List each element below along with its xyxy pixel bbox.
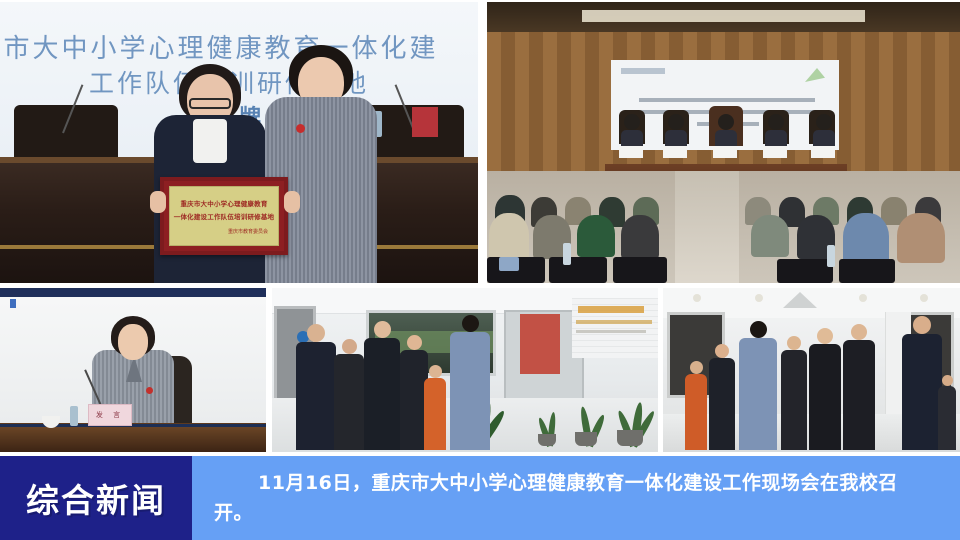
head (715, 344, 729, 358)
nameplate-text: 发 言 (89, 405, 131, 425)
visitor-blue-dress (739, 321, 777, 450)
red-gift-box (412, 107, 438, 137)
visitor (809, 328, 841, 450)
audience-member (843, 213, 889, 265)
sign-title-bar (578, 306, 644, 313)
torso (364, 338, 400, 450)
torso (334, 354, 364, 450)
lapel-pin (296, 124, 305, 133)
photo-conference-hall (487, 2, 960, 283)
visitor (843, 324, 875, 450)
screen-logo (621, 68, 665, 74)
head (768, 114, 784, 130)
head (817, 328, 833, 344)
water-bottle (563, 243, 571, 265)
water-bottle (70, 406, 78, 426)
head (429, 365, 442, 378)
visitor (781, 336, 807, 450)
torso (781, 350, 807, 450)
host-gesturing (902, 316, 942, 450)
chair-back (613, 257, 667, 283)
red-wall-panel (520, 314, 560, 374)
sign-subtitle-bar (576, 320, 652, 324)
staff-orange-vest (685, 361, 707, 450)
screen-leaf-graphic (805, 68, 825, 82)
water-bottle (827, 245, 835, 267)
head (342, 339, 357, 354)
head (787, 336, 801, 350)
audience-member (577, 215, 615, 257)
head (462, 315, 479, 332)
ceiling-light (755, 294, 763, 302)
tour-guide-gesturing (296, 324, 336, 450)
potted-plant (608, 390, 652, 446)
photo-group-visiting-interior (663, 288, 960, 452)
nameplate-3 (713, 146, 737, 158)
head (690, 361, 703, 374)
desk (0, 424, 266, 452)
head (668, 114, 684, 130)
pot (538, 434, 556, 446)
head (624, 114, 640, 130)
photo-plaque-presentation: 市大中小学心理健康教育一体化建 工作队伍培训研修基地 授牌 重庆市大中小 (0, 2, 478, 283)
head (851, 324, 867, 340)
wall-marker (10, 299, 16, 308)
nameplate: 发 言 (88, 404, 132, 426)
glasses (189, 98, 231, 109)
torso (296, 342, 336, 450)
pot (575, 432, 597, 446)
ceiling-light (859, 294, 867, 302)
center-aisle (675, 171, 739, 283)
plaque-face: 重庆市大中小学心理健康教育 一体化建设工作队伍培训研修基地 重庆市教育委员会 (169, 186, 279, 246)
photo-lobby-guided-tour (272, 288, 658, 452)
torso (709, 358, 735, 450)
plaque-issuer: 重庆市教育委员会 (228, 228, 268, 235)
chair-back (777, 259, 833, 283)
banner-caption-text: 11月16日，重庆市大中小学心理健康教育一体化建设工作现场会在我校召开。 (192, 456, 960, 528)
torso (685, 374, 707, 450)
plaque-text-line1: 重庆市大中小学心理健康教育 (180, 198, 267, 208)
plaque-text-line2: 一体化建设工作队伍培训研修基地 (174, 211, 275, 221)
white-collar (193, 119, 227, 163)
visitor-orange-vest (424, 365, 446, 450)
sign-detail-bar (576, 330, 646, 333)
nameplate-4 (763, 146, 787, 158)
visitor (938, 375, 956, 450)
chair-back (549, 257, 607, 283)
head (307, 324, 325, 342)
torso (843, 340, 875, 450)
ceiling (487, 2, 960, 32)
visitor (334, 339, 364, 450)
head (407, 335, 422, 350)
torso (938, 386, 956, 450)
head (913, 316, 931, 334)
ceiling-light (920, 294, 928, 302)
ceiling-light (693, 294, 701, 302)
visitor (709, 344, 735, 450)
hand-right (284, 191, 300, 213)
torso (424, 378, 446, 450)
potted-plant (530, 402, 564, 446)
head (750, 321, 767, 338)
audience-member (621, 215, 659, 259)
lapel-pin (146, 387, 153, 394)
head (816, 114, 832, 130)
nameplate-5 (811, 146, 835, 158)
visitor (364, 321, 400, 450)
upper-banner-strip (0, 288, 266, 297)
desk-document (499, 257, 519, 271)
head (942, 375, 953, 386)
news-collage-page: 市大中小学心理健康教育一体化建 工作队伍培训研修基地 授牌 重庆市大中小 (0, 0, 960, 540)
banner-category-tag: 综合新闻 (0, 456, 192, 540)
nameplate-2 (663, 146, 687, 158)
news-banner: 综合新闻 11月16日，重庆市大中小学心理健康教育一体化建设工作现场会在我校召开… (0, 456, 960, 540)
speaker-head (118, 324, 148, 360)
pot (617, 430, 643, 446)
wall-sign-center-name (572, 298, 658, 358)
ceiling-light-strip (582, 10, 866, 22)
hand-left (150, 191, 166, 213)
torso (739, 338, 777, 450)
banner-caption-area: 11月16日，重庆市大中小学心理健康教育一体化建设工作现场会在我校召开。 (192, 456, 960, 540)
nameplate-1 (619, 146, 643, 158)
potted-plant (566, 396, 606, 446)
award-plaque: 重庆市大中小学心理健康教育 一体化建设工作队伍培训研修基地 重庆市教育委员会 (160, 177, 288, 255)
torso (902, 334, 942, 450)
audience-member (751, 215, 789, 257)
visitor-blue-dress (450, 315, 490, 450)
head (718, 114, 734, 130)
screen-title-line1 (639, 98, 815, 102)
photo-speaker-at-podium: 发 言 (0, 288, 266, 452)
banner-category-label: 综合新闻 (26, 474, 166, 522)
chair-back (839, 259, 895, 283)
head (374, 321, 391, 338)
stage-chair-left (14, 105, 118, 163)
audience-member (897, 213, 945, 263)
torso (450, 332, 490, 450)
audience-member (489, 213, 529, 261)
torso (809, 344, 841, 450)
